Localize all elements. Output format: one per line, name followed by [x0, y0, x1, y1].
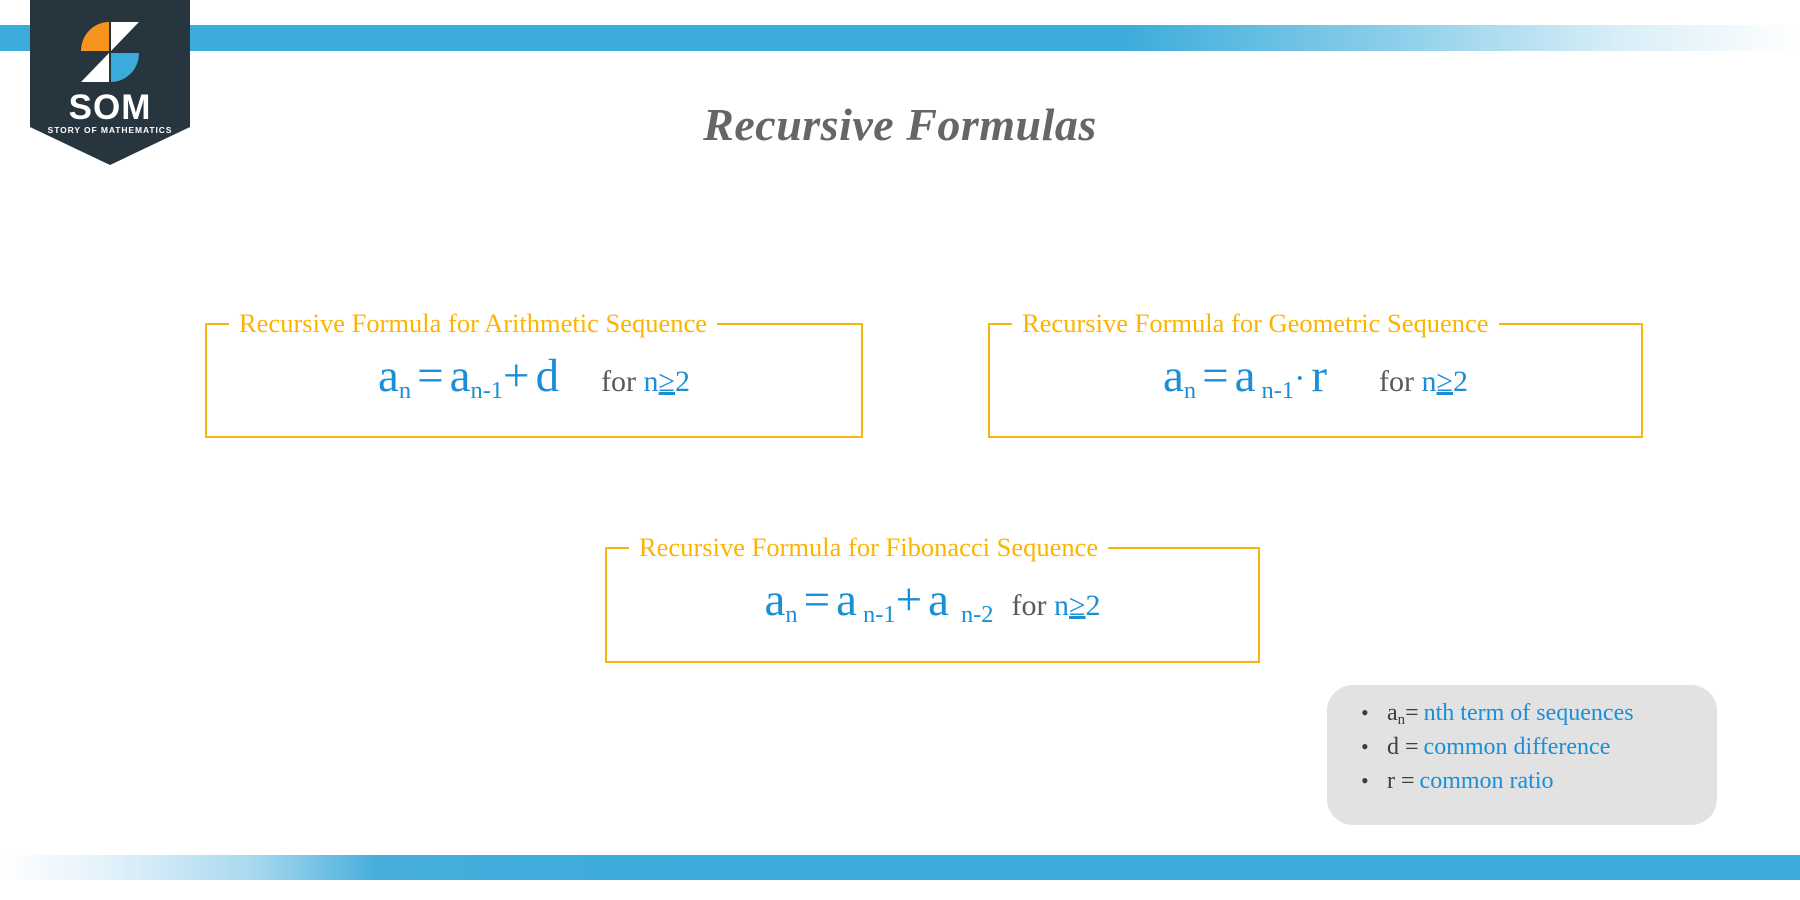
formula-condition-arithmetic: for n≥2 — [601, 365, 690, 399]
formula-expression-fibonacci: an=an-1+an-2 — [765, 577, 994, 624]
formula-expression-geometric: an=an-1·r — [1163, 353, 1327, 400]
bullet-icon: • — [1361, 701, 1387, 724]
formula-box-geometric: Recursive Formula for Geometric Sequence… — [988, 308, 1643, 438]
definition-term: r = — [1387, 769, 1415, 794]
list-item: • an= nth term of sequences — [1361, 701, 1717, 726]
som-wordmark: SOM — [30, 90, 190, 125]
definition-term: d = — [1387, 735, 1419, 760]
page-title: Recursive Formulas — [0, 98, 1800, 151]
som-tagline: STORY OF MATHEMATICS — [30, 126, 190, 135]
bullet-icon: • — [1361, 735, 1387, 758]
formula-legend-fibonacci: Recursive Formula for Fibonacci Sequence — [629, 532, 1108, 563]
formula-row-geometric: an=an-1·r for n≥2 — [990, 353, 1641, 400]
formula-row-fibonacci: an=an-1+an-2 for n≥2 — [607, 577, 1258, 624]
definitions-card: • an= nth term of sequences • d = common… — [1327, 685, 1717, 825]
formula-expression-arithmetic: an=an-1+d — [378, 353, 559, 400]
list-item: • r = common ratio — [1361, 769, 1717, 794]
formula-row-arithmetic: an=an-1+d for n≥2 — [207, 353, 861, 400]
definition-description: common difference — [1424, 735, 1611, 760]
bottom-accent-bar — [0, 855, 1800, 880]
bullet-icon: • — [1361, 769, 1387, 792]
som-logo-icon — [81, 22, 139, 82]
definition-term: an= — [1387, 701, 1419, 726]
formula-box-fibonacci: Recursive Formula for Fibonacci Sequence… — [605, 532, 1260, 663]
formula-condition-fibonacci: for n≥2 — [1012, 589, 1101, 623]
definition-description: nth term of sequences — [1424, 701, 1634, 726]
formula-legend-geometric: Recursive Formula for Geometric Sequence — [1012, 308, 1499, 339]
top-accent-bar — [0, 25, 1800, 51]
formula-legend-arithmetic: Recursive Formula for Arithmetic Sequenc… — [229, 308, 717, 339]
formula-condition-geometric: for n≥2 — [1379, 365, 1468, 399]
definitions-list: • an= nth term of sequences • d = common… — [1361, 701, 1717, 795]
slide-canvas: SOM STORY OF MATHEMATICS Recursive Formu… — [0, 0, 1800, 900]
definition-description: common ratio — [1420, 769, 1554, 794]
formula-box-arithmetic: Recursive Formula for Arithmetic Sequenc… — [205, 308, 863, 438]
list-item: • d = common difference — [1361, 735, 1717, 760]
